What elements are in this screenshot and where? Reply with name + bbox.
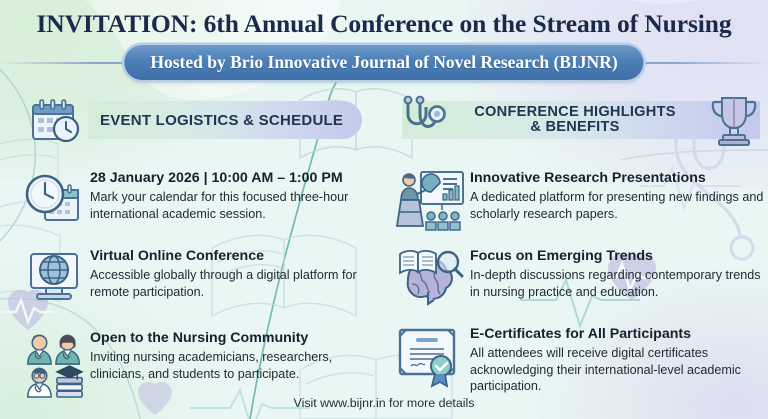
banner-title-line-2: & BENEFITS — [530, 119, 619, 135]
banner-title-line-1: CONFERENCE HIGHLIGHTS — [474, 104, 675, 120]
list-item: Focus on Emerging Trends In-depth discus… — [392, 248, 764, 310]
list-item-text: Open to the Nursing Community Inviting n… — [86, 330, 382, 402]
list-item-text: E-Certificates for All Participants All … — [466, 326, 764, 395]
footer-website-note: Visit www.bijnr.in for more details — [0, 396, 768, 410]
calendar-clock-icon — [28, 99, 86, 148]
list-item: Innovative Research Presentations A dedi… — [392, 170, 764, 232]
left-column: EVENT LOGISTICS & SCHEDULE — [0, 92, 384, 419]
conference-highlights-banner: CONFERENCE HIGHLIGHTS & BENEFITS — [384, 92, 768, 148]
nursing-team-icon — [22, 330, 86, 402]
page-title: INVITATION: 6th Annual Conference on the… — [0, 9, 768, 39]
event-logistics-banner-title: EVENT LOGISTICS & SCHEDULE — [100, 101, 343, 139]
list-item-body: In-depth discussions regarding contempor… — [470, 267, 764, 300]
content-columns: EVENT LOGISTICS & SCHEDULE — [0, 92, 768, 419]
presentation-speaker-icon — [392, 170, 466, 232]
globe-monitor-icon — [22, 248, 86, 306]
list-item: E-Certificates for All Participants All … — [392, 326, 764, 395]
list-item: 28 January 2026 | 10:00 AM – 1:00 PM Mar… — [22, 170, 382, 232]
list-item-heading: Innovative Research Presentations — [470, 170, 764, 187]
certificate-icon — [392, 326, 466, 395]
list-item-text: Innovative Research Presentations A dedi… — [466, 170, 764, 232]
list-item-heading: Open to the Nursing Community — [90, 330, 382, 347]
host-badge: Hosted by Brio Innovative Journal of Nov… — [124, 45, 643, 80]
right-column: CONFERENCE HIGHLIGHTS & BENEFITS — [384, 92, 768, 419]
list-item-text: 28 January 2026 | 10:00 AM – 1:00 PM Mar… — [86, 170, 382, 232]
trophy-icon — [706, 92, 762, 151]
list-item: Open to the Nursing Community Inviting n… — [22, 330, 382, 402]
list-item-heading: 28 January 2026 | 10:00 AM – 1:00 PM — [90, 170, 382, 187]
list-item-text: Virtual Online Conference Accessible glo… — [86, 248, 382, 306]
stethoscope-icon — [396, 94, 448, 151]
list-item-body: Accessible globally through a digital pl… — [90, 267, 382, 300]
list-item: Virtual Online Conference Accessible glo… — [22, 248, 382, 306]
event-logistics-banner: EVENT LOGISTICS & SCHEDULE — [0, 92, 384, 148]
conference-highlights-banner-title: CONFERENCE HIGHLIGHTS & BENEFITS — [442, 101, 708, 139]
invitation-poster: INVITATION: 6th Annual Conference on the… — [0, 0, 768, 419]
list-item-body: Inviting nursing academicians, researche… — [90, 349, 382, 382]
list-item-body: All attendees will receive digital certi… — [470, 345, 764, 395]
list-item-heading: E-Certificates for All Participants — [470, 326, 764, 343]
poster-header: INVITATION: 6th Annual Conference on the… — [0, 0, 768, 92]
list-item-heading: Virtual Online Conference — [90, 248, 382, 265]
list-item-heading: Focus on Emerging Trends — [470, 248, 764, 265]
list-item-text: Focus on Emerging Trends In-depth discus… — [466, 248, 764, 310]
brain-book-magnifier-icon — [392, 248, 466, 310]
list-item-body: Mark your calendar for this focused thre… — [90, 189, 382, 222]
list-item-body: A dedicated platform for presenting new … — [470, 189, 764, 222]
clock-calendar-icon — [22, 170, 86, 232]
